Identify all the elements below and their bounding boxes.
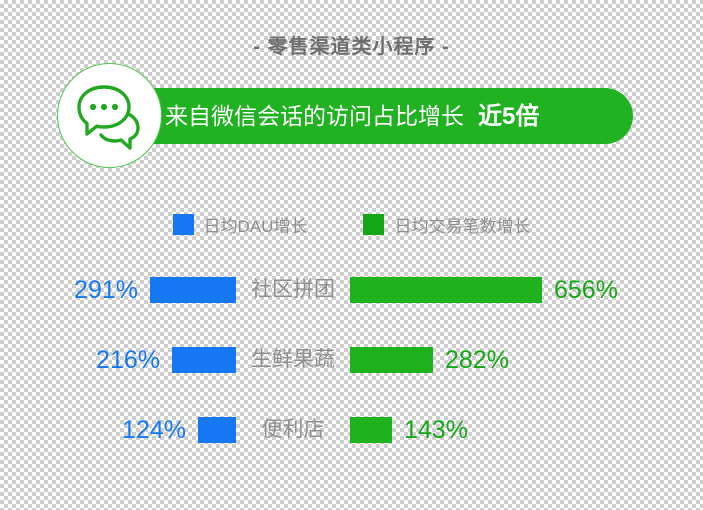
row-right-group: 656%: [350, 277, 618, 303]
row-right-group: 143%: [350, 417, 468, 443]
row-left-bar: [198, 417, 236, 443]
legend-label-transactions: 日均交易笔数增长: [394, 212, 530, 237]
legend-label-dau: 日均DAU增长: [204, 212, 308, 237]
row-left-value: 124%: [122, 418, 186, 443]
legend-swatch-green-icon: [363, 214, 384, 235]
row-right-value: 656%: [554, 278, 618, 303]
row-left-value: 291%: [74, 278, 138, 303]
row-right-value: 143%: [404, 418, 468, 443]
row-category-label: 生鲜果蔬: [236, 347, 350, 373]
highlight-banner-label: 来自微信会话的访问占比增长: [165, 103, 464, 129]
row-right-value: 282%: [445, 348, 509, 373]
row-left-group: 291%: [74, 277, 236, 303]
chart-rows: 291% 社区拼团 656% 216% 生鲜果蔬 282% 124%: [0, 268, 703, 478]
legend-item-dau: 日均DAU增长: [173, 212, 308, 237]
row-category-label: 社区拼团: [236, 277, 350, 303]
row-right-bar: [350, 417, 392, 443]
page-title: - 零售渠道类小程序 -: [0, 30, 703, 59]
legend-item-transactions: 日均交易笔数增长: [363, 212, 530, 237]
infographic-canvas: - 零售渠道类小程序 - 来自微信会话的访问占比增长近5倍 日均DAU增长 日均…: [0, 0, 703, 510]
row-left-value: 216%: [96, 348, 160, 373]
legend-swatch-blue-icon: [173, 214, 194, 235]
row-right-bar: [350, 347, 433, 373]
row-left-group: 216%: [96, 347, 236, 373]
chart-legend: 日均DAU增长 日均交易笔数增长: [0, 212, 703, 237]
highlight-banner-text: 来自微信会话的访问占比增长近5倍: [165, 88, 539, 144]
row-left-bar: [150, 277, 236, 303]
row-left-group: 124%: [122, 417, 236, 443]
table-row: 124% 便利店 143%: [0, 408, 703, 478]
table-row: 216% 生鲜果蔬 282%: [0, 338, 703, 408]
chat-bubbles-icon: [57, 63, 162, 168]
row-left-bar: [172, 347, 236, 373]
row-category-label: 便利店: [236, 417, 350, 443]
table-row: 291% 社区拼团 656%: [0, 268, 703, 338]
chat-bubbles-icon-glyph: [76, 82, 146, 152]
highlight-banner-emphasis: 近5倍: [478, 103, 539, 130]
row-right-group: 282%: [350, 347, 509, 373]
row-right-bar: [350, 277, 542, 303]
